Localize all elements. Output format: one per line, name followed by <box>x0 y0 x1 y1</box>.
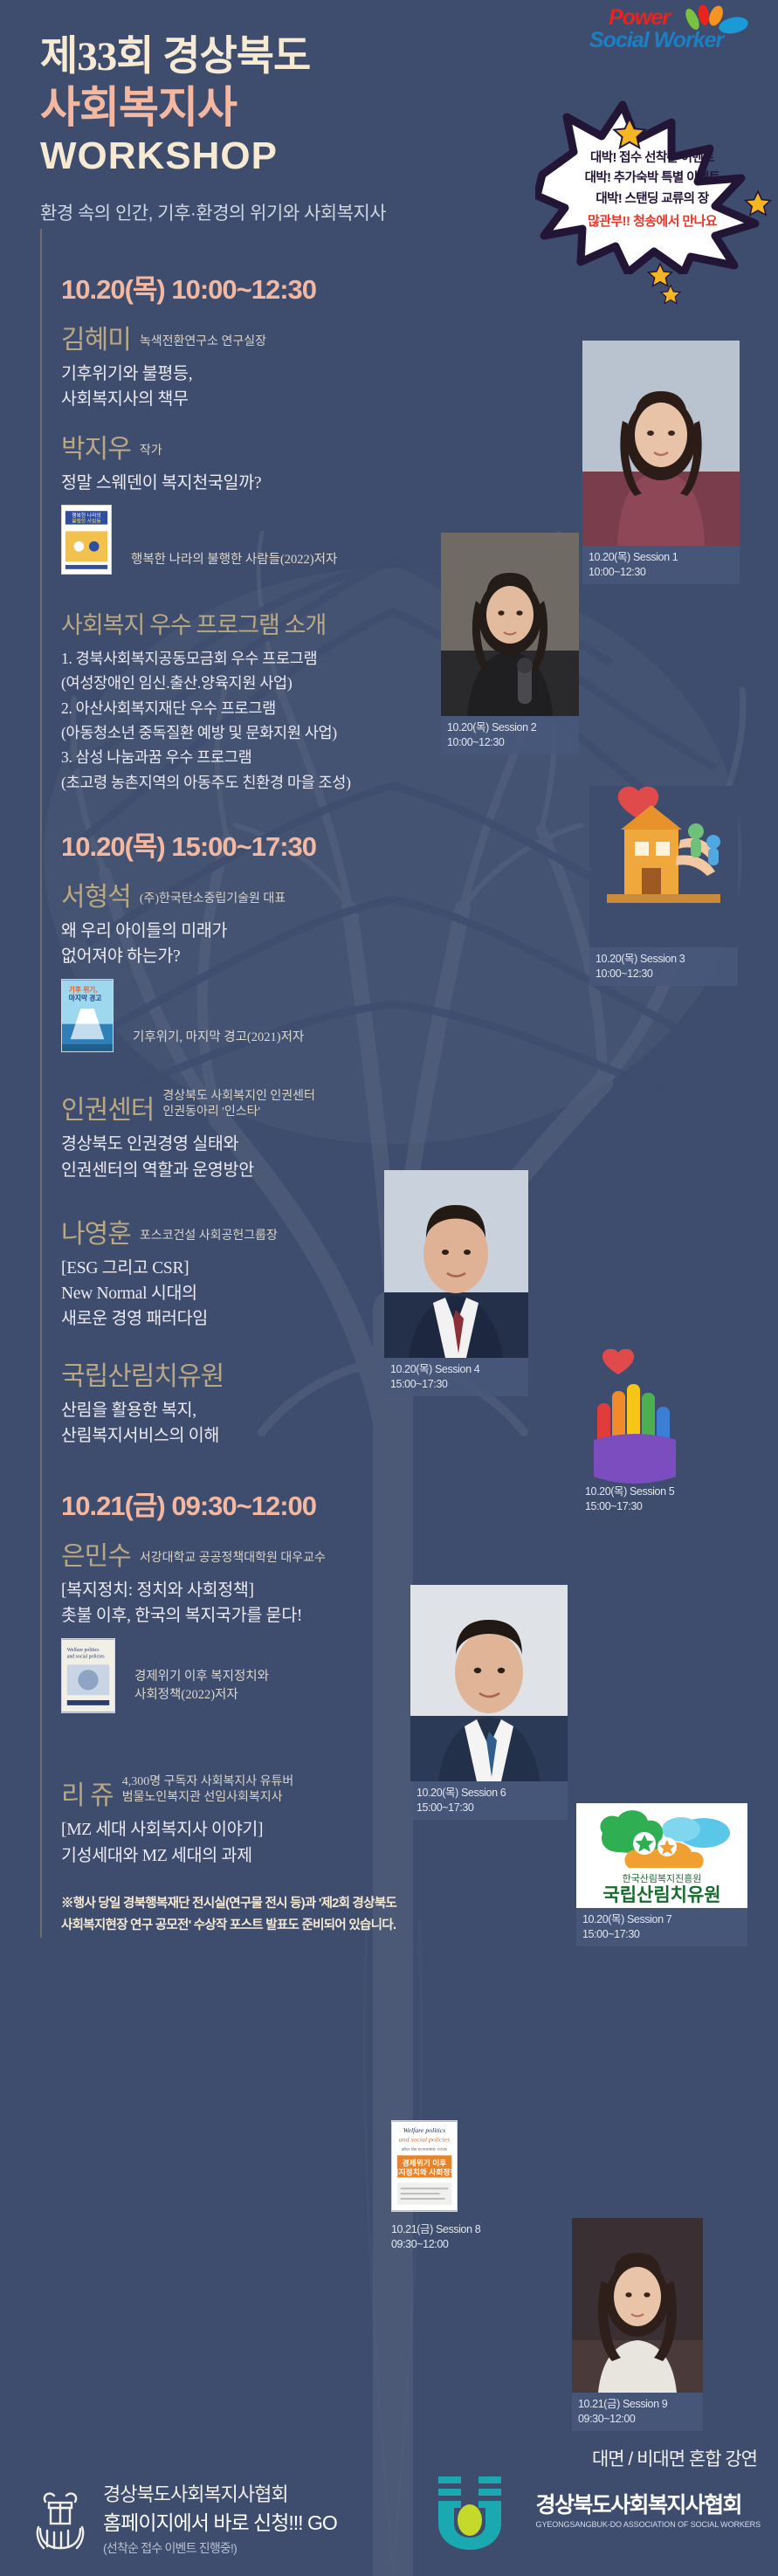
portrait-image <box>410 1585 568 1781</box>
speaker-topic: 왜 우리 아이들의 미래가 없어져야 하는가? <box>61 919 428 970</box>
portrait-image <box>572 2218 703 2393</box>
book-caption: 행복한 나라의 불행한 사람들(2022)저자 <box>131 551 337 575</box>
apply-line-2[interactable]: 홈페이지에서 바로 신청!!! GO <box>103 2509 337 2538</box>
house-hands-illustration-icon <box>589 786 738 947</box>
svg-text:after the economic crisis: after the economic crisis <box>402 2146 447 2152</box>
session-tag: 10.20(목) Session 2 10:00~12:30 <box>441 716 579 754</box>
power-social-worker-logo: Power Social Worker <box>589 7 755 52</box>
program-section-items: 1. 경북사회복지공동모금회 우수 프로그램 (여성장애인 임신.출산.양육지원… <box>61 646 472 795</box>
association-name-kr: 경상북도사회복지사협회 <box>536 2494 761 2518</box>
session-tag: 10.20(목) Session 5 15:00~17:30 <box>585 1484 725 1513</box>
speaker-topic: [복지정치: 정치와 사회정책] 촛불 이후, 한국의 복지국가를 묻다! <box>61 1578 445 1629</box>
svg-text:국립산림치유원: 국립산림치유원 <box>602 1885 720 1905</box>
speaker-forest-healing-center: 국립산림치유원 산림을 활용한 복지, 산림복지서비스의 이해 <box>61 1362 428 1450</box>
association-mark-icon <box>433 2469 527 2553</box>
burst-line-2: 대박! 추가숙박 특별 이벤트 <box>535 169 769 189</box>
apply-callout[interactable]: 경상북도사회복지사협회 홈페이지에서 바로 신청!!! GO (선착순 접수 이… <box>31 2480 337 2557</box>
burst-line-4-red: 많관부!! 청송에서 만나요 <box>535 211 769 232</box>
speaker-kim-hyemi: 김혜미 녹색전환연구소 연구실장 기후위기와 불평등, 사회복지사의 책무 <box>61 326 428 413</box>
star-icon <box>659 284 682 307</box>
speaker-name: 국립산림치유원 <box>61 1362 224 1391</box>
speaker-role: (주)한국탄소중립기술원 대표 <box>140 892 286 912</box>
session-tag: 10.20(목) Session 6 15:00~17:30 <box>410 1781 568 1820</box>
star-icon <box>611 116 648 153</box>
svg-text:행복한 나라의: 행복한 나라의 <box>72 512 101 519</box>
book-cover-welfare-politics-right: Welfare politics and social policies aft… <box>391 2120 458 2212</box>
book-caption: 기후위기, 마지막 경고(2021)저자 <box>133 1029 304 1052</box>
speaker-name: 박지우 <box>61 435 131 464</box>
svg-text:마지막 경고: 마지막 경고 <box>69 993 102 1002</box>
speaker-name: 은민수 <box>61 1542 131 1571</box>
svg-text:and social policies: and social policies <box>67 1654 106 1659</box>
star-icon <box>743 189 773 219</box>
poster-root: Power Social Worker 대박! 접수 선착순 이벤트 대박! 추… <box>0 0 778 2576</box>
apply-line-1: 경상북도사회복지사협회 <box>103 2480 337 2509</box>
event-starburst-banner: 대박! 접수 선착순 이벤트 대박! 추가숙박 특별 이벤트 대박! 스탠딩 교… <box>535 91 769 274</box>
speaker-name: 리 쥬 <box>61 1781 114 1810</box>
svg-text:불행한 사람들: 불행한 사람들 <box>72 518 101 525</box>
apply-text: 경상북도사회복지사협회 홈페이지에서 바로 신청!!! GO (선착순 접수 이… <box>103 2480 337 2557</box>
book-cover-art: 기후 위기, 마지막 경고 <box>62 980 113 1051</box>
gift-hands-icon <box>31 2485 89 2552</box>
speaker-photo-na-younghoon: 10.20(목) Session 6 15:00~17:30 <box>410 1585 568 1781</box>
speaker-role: 4,300명 구독자 사회복지사 유튜버 범물노인복지관 선임사회복지사 <box>122 1774 294 1811</box>
speaker-topic: 정말 스웨덴이 복지천국일까? <box>61 471 445 496</box>
petal-icon <box>680 5 752 35</box>
session-tag: 10.20(목) Session 4 15:00~17:30 <box>384 1358 528 1396</box>
svg-text:경제위기 이후: 경제위기 이후 <box>403 2158 447 2167</box>
speaker-photo-kim-hyemi: 10.20(목) Session 1 10:00~12:30 <box>582 341 740 546</box>
speaker-photo-ri-ju: 10.21(금) Session 9 09:30~12:00 <box>572 2218 703 2393</box>
speaker-topic: [MZ 세대 사회복지사 이야기] 기성세대와 MZ 세대의 과제 <box>61 1817 437 1869</box>
svg-text:and social policies: and social policies <box>399 2136 450 2144</box>
speaker-topic: [ESG 그리고 CSR] New Normal 시대의 새로운 경영 패러다임 <box>61 1256 428 1333</box>
speaker-role: 녹색전환연구소 연구실장 <box>140 334 266 355</box>
svg-text:기후 위기,: 기후 위기, <box>69 984 98 993</box>
book-cover-art: Welfare politics and social policies aft… <box>392 2121 457 2211</box>
speaker-name: 나영훈 <box>61 1220 131 1249</box>
program-illustration: 10.20(목) Session 3 10:00~12:30 <box>589 786 738 947</box>
speaker-photo-park-jiwoo: 10.20(목) Session 2 10:00~12:30 <box>441 533 579 716</box>
svg-text:한국산림복지진흥원: 한국산림복지진흥원 <box>622 1872 701 1884</box>
book-cover-art: Welfare politics and social policies <box>62 1639 114 1712</box>
program-section: 사회복지 우수 프로그램 소개 1. 경북사회복지공동모금회 우수 프로그램 (… <box>61 613 472 795</box>
speaker-na-younghoon: 나영훈 포스코건설 사회공헌그룹장 [ESG 그리고 CSR] New Norm… <box>61 1220 428 1333</box>
svg-text:복지정치와 사회정책: 복지정치와 사회정책 <box>392 2167 457 2177</box>
book-cover-art: 행복한 나라의 불행한 사람들 <box>62 506 111 574</box>
forest-logo-icon: 한국산림복지진흥원 국립산림치유원 <box>576 1803 747 1908</box>
session-tag: 10.20(목) Session 3 10:00~12:30 <box>589 947 738 986</box>
speaker-topic: 산림을 활용한 복지, 산림복지서비스의 이해 <box>61 1398 428 1450</box>
program-section-title: 사회복지 우수 프로그램 소개 <box>61 613 472 639</box>
lecture-mode-label: 대면 / 비대면 혼합 강연 <box>592 2445 757 2471</box>
speaker-seo-hyeongseok: 서형석 (주)한국탄소중립기술원 대표 왜 우리 아이들의 미래가 없어져야 하… <box>61 883 428 1052</box>
portrait-image <box>384 1170 528 1358</box>
speaker-role: 경상북도 사회복지인 인권센터 인권동아리 '인스타' <box>162 1089 314 1126</box>
session-tag: 10.20(목) Session 7 15:00~17:30 <box>576 1908 747 1946</box>
speaker-name: 서형석 <box>61 883 131 912</box>
burst-line-1: 대박! 접수 선착순 이벤트 <box>535 148 769 169</box>
speaker-name: 김혜미 <box>61 326 131 355</box>
apply-note: (선착순 접수 이벤트 진행중!) <box>103 2539 337 2557</box>
forest-healing-center-logo: 한국산림복지진흥원 국립산림치유원 10.20(목) Session 7 15:… <box>576 1803 747 1908</box>
speaker-role: 포스코건설 사회공헌그룹장 <box>140 1229 278 1249</box>
svg-text:Welfare politics: Welfare politics <box>67 1646 100 1652</box>
poster-footer: 경상북도사회복지사협회 홈페이지에서 바로 신청!!! GO (선착순 접수 이… <box>0 2405 778 2576</box>
speaker-name: 인권센터 <box>61 1096 154 1125</box>
speaker-park-jiwoo: 박지우 작가 정말 스웨덴이 복지천국일까? 행복한 나라의 불행한 사람들 <box>61 435 445 575</box>
session-tag: 10.21(금) Session 8 09:30~12:00 <box>391 2222 540 2251</box>
speaker-human-rights-center: 인권센터 경상북도 사회복지인 인권센터 인권동아리 '인스타' 경상북도 인권… <box>61 1089 463 1183</box>
book-cover-welfare-politics-left: Welfare politics and social policies <box>61 1638 115 1713</box>
association-text: 경상북도사회복지사협회 GYEONGSANGBUK-DO ASSOCIATION… <box>536 2494 761 2530</box>
book-cover-happy-country: 행복한 나라의 불행한 사람들 <box>61 505 112 575</box>
rainbow-hand-illustration-icon <box>585 1349 690 1498</box>
burst-line-3: 대박! 스탠딩 교류의 장 <box>535 189 769 210</box>
svg-text:Welfare politics: Welfare politics <box>403 2126 445 2134</box>
speaker-topic: 기후위기와 불평등, 사회복지사의 책무 <box>61 362 428 413</box>
speaker-eun-minsu: 은민수 서강대학교 공공정책대학원 대우교수 [복지정치: 정치와 사회정책] … <box>61 1542 445 1713</box>
speaker-ri-ju: 리 쥬 4,300명 구독자 사회복지사 유튜버 범물노인복지관 선임사회복지사… <box>61 1774 437 1869</box>
portrait-image <box>441 533 579 716</box>
book-caption: 경제위기 이후 복지정치와 사회정책(2022)저자 <box>134 1638 269 1705</box>
association-logo: 경상북도사회복지사협회 GYEONGSANGBUK-DO ASSOCIATION… <box>433 2469 761 2553</box>
exhibition-notice: ※행사 당일 경북행복재단 전시실(연구물 전시 등)과 '제2회 경상북도 사… <box>61 1893 550 1938</box>
speaker-role: 작가 <box>140 444 162 464</box>
speaker-photo-seo-hyeongseok: 10.20(목) Session 4 15:00~17:30 <box>384 1170 528 1358</box>
starburst-text: 대박! 접수 선착순 이벤트 대박! 추가숙박 특별 이벤트 대박! 스탠딩 교… <box>535 148 769 233</box>
speaker-role: 서강대학교 공공정책대학원 대우교수 <box>140 1551 326 1571</box>
session-tag: 10.20(목) Session 1 10:00~12:30 <box>582 546 740 584</box>
book-cover-climate-warning: 기후 위기, 마지막 경고 <box>61 979 114 1052</box>
portrait-image <box>582 341 740 546</box>
association-name-en: GYEONGSANGBUK-DO ASSOCIATION OF SOCIAL W… <box>536 2520 761 2529</box>
